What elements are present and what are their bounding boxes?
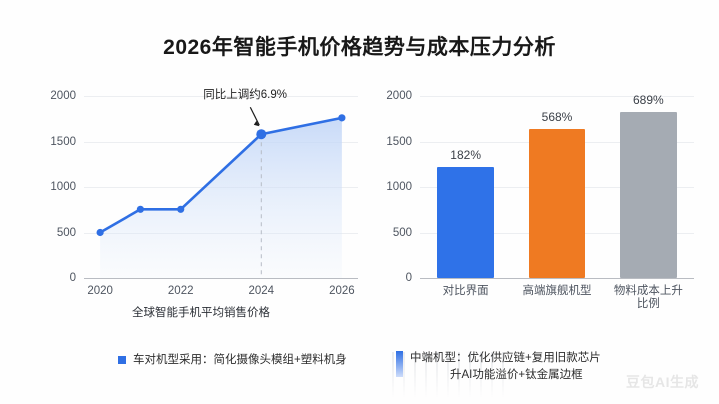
y-axis-tick-label: 1500 [50, 136, 76, 148]
x-axis-tick-label: 2024 [248, 285, 274, 297]
y-axis-tick-label: 0 [406, 272, 412, 284]
x-axis-tick-label: 对比界面 [443, 285, 489, 298]
data-point-marker [177, 206, 184, 213]
legend-label-line2: 升AI功能溢价+钛金属边框 [410, 369, 583, 381]
slide-canvas: 2026年智能手机价格趋势与成本压力分析 0500100015002000202… [0, 0, 719, 404]
y-axis-tick-label: 2000 [50, 90, 76, 102]
legend-label-line1: 中端机型：优化供应链+复用旧款芯片 [410, 352, 601, 364]
line-chart-panel: 05001000150020002020202220242026同比上调约6.9… [36, 82, 366, 322]
x-axis-tick-label: 高端旗舰机型 [523, 285, 592, 298]
x-axis-tick-label-line: 物料成本上升 [614, 285, 683, 298]
legend-label-block: 中端机型：优化供应链+复用旧款芯片 升AI功能溢价+钛金属边框 [410, 350, 601, 384]
y-axis-tick-label: 2000 [386, 90, 412, 102]
bar-data-label: 182% [450, 148, 481, 162]
line-chart-x-axis-title: 全球智能手机平均销售价格 [36, 304, 366, 320]
legend-item: 车对机型采用：简化摄像头模组+塑料机身 [118, 352, 347, 369]
x-axis-tick-label-line: 比例 [614, 298, 683, 311]
bar-chart-panel: 0500100015002000182%对比界面568%高端旗舰机型689%物料… [372, 82, 702, 322]
bar [529, 129, 586, 278]
y-axis-tick-label: 500 [57, 227, 76, 239]
y-axis-tick-label: 1500 [386, 136, 412, 148]
bar-chart-plot-area: 0500100015002000182%对比界面568%高端旗舰机型689%物料… [420, 96, 694, 278]
data-point-marker [256, 129, 266, 139]
x-axis-tick-label: 2020 [87, 285, 113, 297]
watermark-label: 豆包AI生成 [626, 372, 699, 392]
x-axis-tick-label-line: 对比界面 [443, 285, 489, 298]
bar-data-label: 689% [633, 93, 664, 107]
x-axis-tick-label: 2022 [168, 285, 194, 297]
line-series-graphic [84, 96, 358, 278]
chart-annotation-label: 同比上调约6.9% [203, 86, 287, 102]
legend-bar-icon [396, 351, 403, 377]
bar [620, 112, 677, 278]
data-point-marker [97, 229, 104, 236]
y-axis-tick-label: 1000 [50, 181, 76, 193]
legend-square-icon [118, 356, 126, 364]
page-title: 2026年智能手机价格趋势与成本压力分析 [0, 31, 719, 61]
bar [437, 167, 494, 278]
bar-chart-legend: 中端机型：优化供应链+复用旧款芯片 升AI功能溢价+钛金属边框 [396, 350, 601, 384]
bar-data-label: 568% [542, 110, 573, 124]
x-axis-tick-label-line: 高端旗舰机型 [523, 285, 592, 298]
x-axis-tick-label: 2026 [329, 285, 355, 297]
line-chart-plot-area: 05001000150020002020202220242026同比上调约6.9… [84, 96, 358, 278]
gridline [420, 278, 694, 279]
y-axis-tick-label: 0 [70, 272, 76, 284]
data-point-marker [338, 114, 345, 121]
area-fill [100, 118, 342, 278]
gridline [84, 278, 358, 279]
data-point-marker [137, 206, 144, 213]
annotation-arrow-shaft [250, 107, 259, 125]
y-axis-tick-label: 1000 [386, 181, 412, 193]
x-axis-tick-label: 物料成本上升比例 [614, 285, 683, 311]
y-axis-tick-label: 500 [393, 227, 412, 239]
legend-item: 中端机型：优化供应链+复用旧款芯片 升AI功能溢价+钛金属边框 [396, 350, 601, 384]
legend-label: 车对机型采用：简化摄像头模组+塑料机身 [133, 352, 347, 369]
line-chart-legend: 车对机型采用：简化摄像头模组+塑料机身 [118, 352, 347, 369]
